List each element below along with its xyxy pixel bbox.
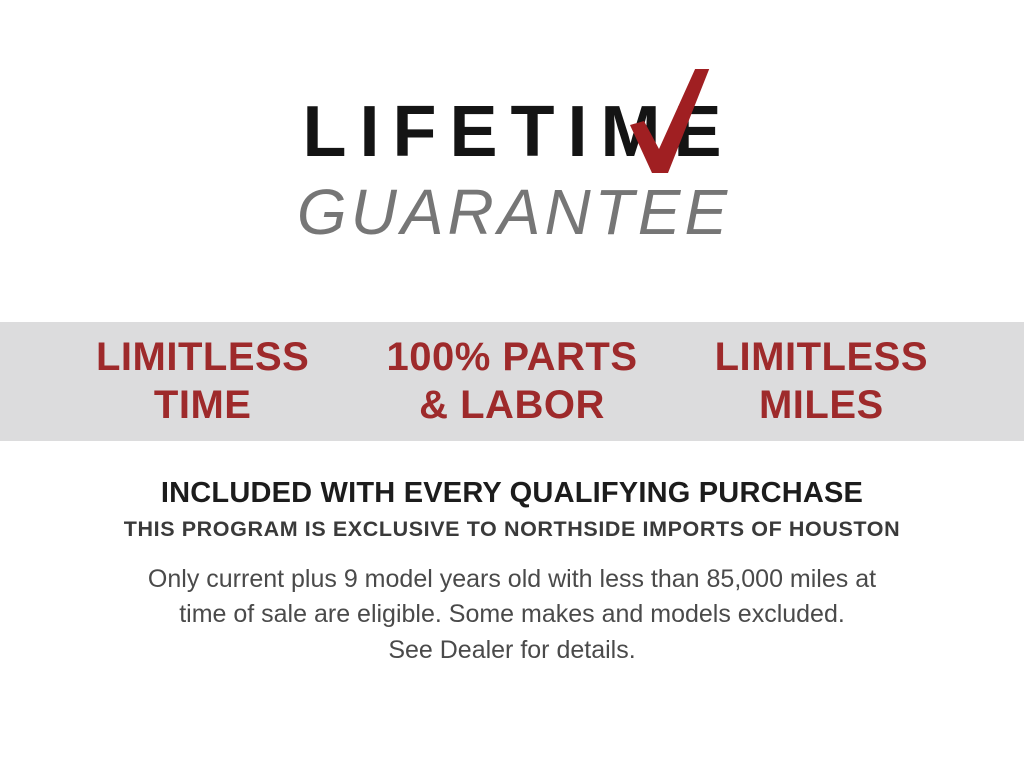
- benefit-line-1: 100% PARTS: [357, 334, 666, 381]
- benefit-line-1: LIMITLESS: [48, 334, 357, 381]
- fineprint-line: See Dealer for details.: [0, 633, 1024, 669]
- wordmark-guarantee: GUARANTEE: [290, 180, 735, 244]
- benefit-item-parts-labor: 100% PARTS & LABOR: [357, 334, 666, 428]
- wordmark-group: LIFETIME GUARANTEE: [290, 96, 735, 244]
- fineprint-line: Only current plus 9 model years old with…: [0, 562, 1024, 598]
- benefit-line-1: LIMITLESS: [667, 334, 976, 381]
- benefit-item-time: LIMITLESS TIME: [48, 334, 357, 428]
- details-headline: INCLUDED WITH EVERY QUALIFYING PURCHASE: [0, 478, 1024, 510]
- wordmark-lifetime: LIFETIME: [290, 96, 735, 168]
- details-subline: THIS PROGRAM IS EXCLUSIVE TO NORTHSIDE I…: [0, 518, 1024, 542]
- benefit-line-2: TIME: [48, 382, 357, 429]
- benefits-band: LIMITLESS TIME 100% PARTS & LABOR LIMITL…: [0, 322, 1024, 441]
- lifetime-guarantee-advertisement: LIFETIME GUARANTEE LIMITLESS TIME 100% P…: [0, 0, 1024, 768]
- benefit-line-2: MILES: [667, 382, 976, 429]
- fineprint-line: time of sale are eligible. Some makes an…: [0, 597, 1024, 633]
- benefit-item-miles: LIMITLESS MILES: [667, 334, 976, 428]
- details-fineprint: Only current plus 9 model years old with…: [0, 562, 1024, 669]
- details-block: INCLUDED WITH EVERY QUALIFYING PURCHASE …: [0, 478, 1024, 668]
- logo-block: LIFETIME GUARANTEE: [0, 96, 1024, 244]
- benefit-line-2: & LABOR: [357, 382, 666, 429]
